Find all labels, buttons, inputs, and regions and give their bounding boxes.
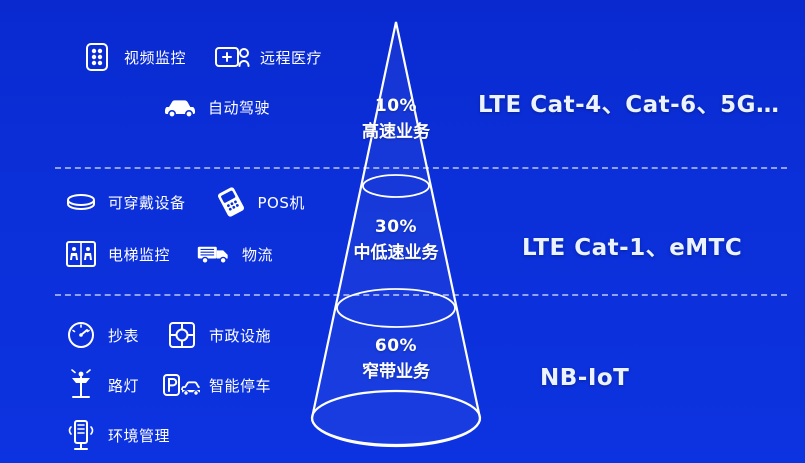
item-street-lamp: 路灯 bbox=[62, 368, 139, 402]
item-label: POS机 bbox=[258, 192, 305, 213]
cone-percent: 10% bbox=[316, 95, 476, 118]
item-label: 智能停车 bbox=[209, 375, 271, 396]
item-logistics: 物流 bbox=[196, 237, 273, 271]
environment-monitor-icon bbox=[62, 418, 100, 452]
item-label: 视频监控 bbox=[124, 47, 186, 68]
smart-parking-icon bbox=[163, 368, 201, 402]
diagram-canvas: 10% 高速业务 30% 中低速业务 60% 窄带业务 LTE Cat-4、Ca… bbox=[0, 0, 805, 463]
item-municipal-facility: 市政设施 bbox=[163, 318, 271, 352]
cone-percent: 30% bbox=[316, 216, 476, 239]
item-video-surveillance: 视频监控 bbox=[78, 40, 186, 74]
technology-label-medium-speed: LTE Cat-1、eMTC bbox=[522, 228, 742, 262]
municipal-facility-icon bbox=[163, 318, 201, 352]
traffic-light-icon bbox=[78, 40, 116, 74]
item-label: 抄表 bbox=[108, 325, 139, 346]
item-telemedicine: 远程医疗 bbox=[214, 40, 322, 74]
technology-label-high-speed: LTE Cat-4、Cat-6、5G… bbox=[478, 85, 780, 119]
item-label: 自动驾驶 bbox=[208, 97, 270, 118]
item-label: 物流 bbox=[242, 244, 273, 265]
elevator-icon bbox=[62, 237, 100, 271]
item-label: 环境管理 bbox=[108, 425, 170, 446]
item-pos-terminal: POS机 bbox=[212, 185, 305, 219]
telemedicine-icon bbox=[214, 40, 252, 74]
item-label: 可穿戴设备 bbox=[108, 192, 186, 213]
wearable-icon bbox=[62, 185, 100, 219]
truck-icon bbox=[196, 237, 234, 271]
cone-label-medium-speed: 30% 中低速业务 bbox=[316, 216, 476, 265]
cone-segment-name: 窄带业务 bbox=[316, 361, 476, 384]
item-environment-management: 环境管理 bbox=[62, 418, 170, 452]
icon-group-high-speed: 视频监控 远程医疗 bbox=[78, 40, 322, 124]
icon-group-narrow-band: 抄表 市政设施 bbox=[62, 318, 271, 452]
street-lamp-icon bbox=[62, 368, 100, 402]
cone-segment-name: 高速业务 bbox=[316, 121, 476, 144]
icon-group-medium-speed: 可穿戴设备 bbox=[62, 185, 305, 271]
pos-terminal-icon bbox=[212, 185, 250, 219]
cone-label-narrow-band: 60% 窄带业务 bbox=[316, 335, 476, 384]
item-meter-reading: 抄表 bbox=[62, 318, 139, 352]
cone-segment-name: 中低速业务 bbox=[316, 242, 476, 265]
item-wearable-device: 可穿戴设备 bbox=[62, 185, 186, 219]
meter-icon bbox=[62, 318, 100, 352]
technology-label-narrow-band: NB-IoT bbox=[540, 365, 629, 391]
item-label: 电梯监控 bbox=[108, 244, 170, 265]
item-autonomous-driving: 自动驾驶 bbox=[162, 90, 270, 124]
item-elevator-monitoring: 电梯监控 bbox=[62, 237, 170, 271]
item-smart-parking: 智能停车 bbox=[163, 368, 271, 402]
item-label: 远程医疗 bbox=[260, 47, 322, 68]
item-label: 市政设施 bbox=[209, 325, 271, 346]
item-label: 路灯 bbox=[108, 375, 139, 396]
cone-label-high-speed: 10% 高速业务 bbox=[316, 95, 476, 144]
car-icon bbox=[162, 90, 200, 124]
cone-percent: 60% bbox=[316, 335, 476, 358]
